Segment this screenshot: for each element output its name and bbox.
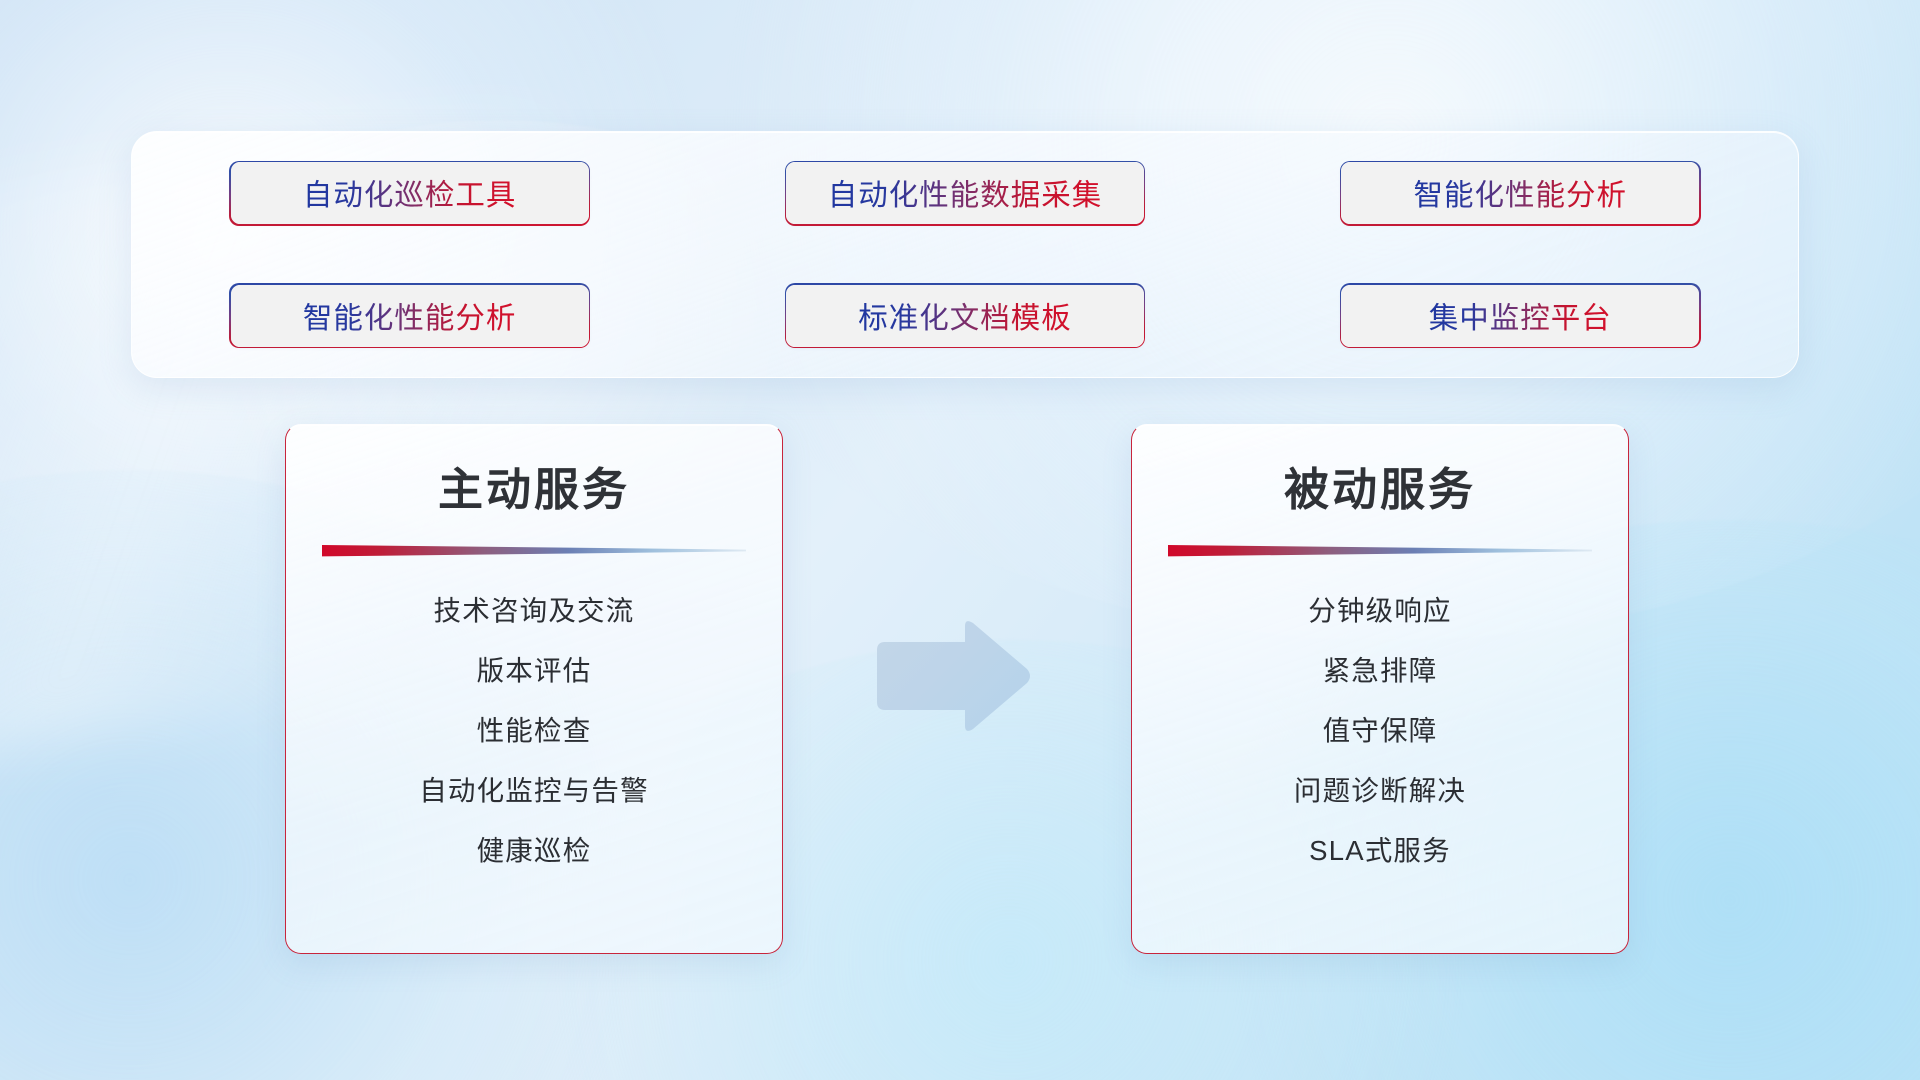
capability-pill-grid: 自动化巡检工具 自动化性能数据采集 智能化性能分析 智能化性能分析 标准化文档模… bbox=[132, 132, 1798, 377]
card-item-list: 分钟级响应 紧急排障 值守保障 问题诊断解决 SLA式服务 bbox=[1132, 591, 1628, 871]
capability-pill-label: 标准化文档模板 bbox=[858, 295, 1072, 337]
card-title: 主动服务 bbox=[286, 453, 782, 518]
arrow-right-icon bbox=[869, 617, 1034, 737]
capability-pill-label: 自动化巡检工具 bbox=[303, 172, 517, 214]
service-card-active: 主动服务 技术咨询及交流 版本评估 性能检查 自动化监控与告警 健康巡检 bbox=[285, 424, 783, 954]
card-item-list: 技术咨询及交流 版本评估 性能检查 自动化监控与告警 健康巡检 bbox=[286, 591, 782, 871]
card-list-item: SLA式服务 bbox=[1309, 831, 1451, 871]
capabilities-panel: 自动化巡检工具 自动化性能数据采集 智能化性能分析 智能化性能分析 标准化文档模… bbox=[131, 131, 1799, 378]
capability-pill-label: 自动化性能数据采集 bbox=[828, 172, 1103, 214]
capability-pill-2[interactable]: 自动化性能数据采集 bbox=[786, 162, 1144, 224]
card-list-item: 自动化监控与告警 bbox=[419, 771, 649, 811]
card-list-item: 技术咨询及交流 bbox=[434, 591, 635, 631]
card-list-item: 分钟级响应 bbox=[1308, 591, 1452, 631]
card-title-divider bbox=[1168, 544, 1592, 557]
capability-pill-4[interactable]: 智能化性能分析 bbox=[231, 285, 589, 347]
capability-pill-label: 智能化性能分析 bbox=[1414, 172, 1628, 214]
card-list-item: 紧急排障 bbox=[1323, 651, 1438, 691]
card-list-item: 问题诊断解决 bbox=[1294, 771, 1466, 811]
capability-pill-label: 集中监控平台 bbox=[1429, 295, 1612, 337]
card-list-item: 健康巡检 bbox=[477, 831, 592, 871]
card-list-item: 值守保障 bbox=[1323, 711, 1438, 751]
card-title: 被动服务 bbox=[1132, 453, 1628, 518]
capability-pill-label: 智能化性能分析 bbox=[303, 295, 517, 337]
card-list-item: 版本评估 bbox=[477, 651, 592, 691]
card-list-item: 性能检查 bbox=[477, 711, 592, 751]
capability-pill-1[interactable]: 自动化巡检工具 bbox=[231, 162, 589, 224]
capability-pill-5[interactable]: 标准化文档模板 bbox=[786, 285, 1144, 347]
capability-pill-6[interactable]: 集中监控平台 bbox=[1341, 285, 1699, 347]
service-card-passive: 被动服务 分钟级响应 紧急排障 值守保障 问题诊断解决 SLA式服务 bbox=[1131, 424, 1629, 954]
capability-pill-3[interactable]: 智能化性能分析 bbox=[1341, 162, 1699, 224]
card-title-divider bbox=[322, 544, 746, 557]
